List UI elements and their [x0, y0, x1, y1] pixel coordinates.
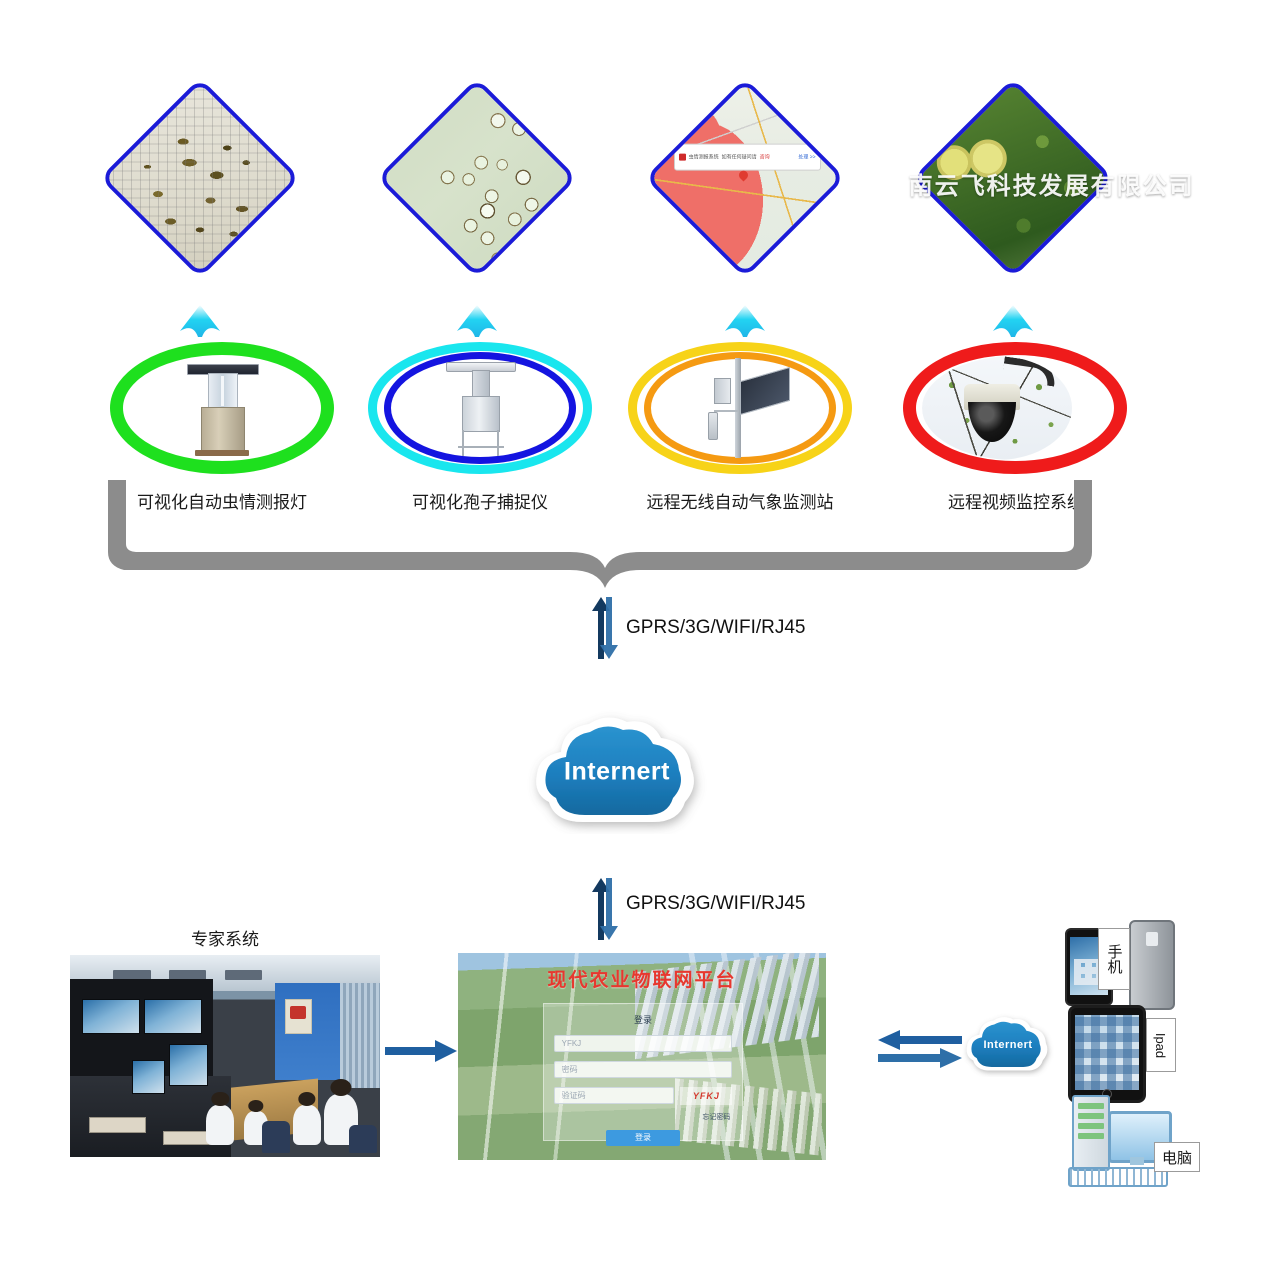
device-ring-dome-camera[interactable] — [903, 342, 1127, 474]
weather-station-icon — [688, 356, 792, 460]
capture-diamond-spores — [377, 78, 577, 278]
uplink-arrow-2 — [442, 305, 512, 339]
diamond-frame — [377, 78, 578, 279]
link-arrow-upper — [592, 597, 618, 664]
spore-microscope-image — [377, 79, 578, 279]
popup-system-name: 虫情测报系统 — [689, 154, 719, 161]
arrow-expert-to-platform — [385, 1038, 457, 1069]
internet-cloud-main[interactable]: Internert — [527, 710, 707, 834]
map-popup: 虫情测报系统 如有任何疑问请 咨询 处理 >> — [674, 144, 821, 171]
username-input[interactable]: YFKJ — [554, 1035, 733, 1052]
capture-diamond-insects — [100, 78, 300, 278]
cloud-label-main: Internert — [527, 758, 707, 787]
iot-platform-screenshot[interactable]: 现代农业物联网平台 登录 YFKJ 密码 验证码 YFKJ 忘记密码 登录 — [458, 953, 826, 1160]
client-label-ipad-box: Ipad — [1146, 1018, 1176, 1072]
captcha-image[interactable]: YFKJ — [680, 1087, 732, 1105]
platform-title: 现代农业物联网平台 — [458, 965, 826, 992]
insect-trap-lamp-icon — [187, 360, 257, 456]
login-submit-button[interactable]: 登录 — [606, 1130, 680, 1146]
captcha-row[interactable]: 验证码 YFKJ — [554, 1087, 733, 1105]
capture-diamond-map: 虫情测报系统 如有任何疑问请 咨询 处理 >> — [645, 78, 845, 278]
weather-map-image: 虫情测报系统 如有任何疑问请 咨询 处理 >> — [645, 79, 846, 279]
expert-system-photo — [70, 955, 380, 1157]
arrow-clients-to-platform — [878, 1030, 962, 1075]
diamond-image-insects — [100, 79, 301, 279]
device-ring-spore-trap[interactable] — [368, 342, 592, 474]
client-label-ipad: Ipad — [1154, 1032, 1169, 1057]
expert-system-label: 专家系统 — [70, 925, 380, 950]
link-label-lower: GPRS/3G/WIFI/RJ45 — [626, 893, 805, 915]
password-input[interactable]: 密码 — [554, 1061, 733, 1078]
popup-message: 如有任何疑问请 — [722, 154, 757, 161]
orchard-watermark: 南云飞科技发展有限公司 — [880, 166, 1140, 201]
login-heading: 登录 — [544, 1013, 743, 1026]
aggregation-bracket — [100, 480, 1100, 595]
diamond-image-map: 虫情测报系统 如有任何疑问请 咨询 处理 >> — [645, 79, 846, 279]
cloud-label-side: Internert — [962, 1039, 1054, 1051]
uplink-arrow-4 — [978, 305, 1048, 339]
login-panel[interactable]: 登录 YFKJ 密码 验证码 YFKJ 忘记密码 登录 — [543, 1003, 744, 1142]
desktop-computer-icon — [1068, 1095, 1172, 1187]
internet-cloud-side[interactable]: Internert — [962, 1013, 1054, 1077]
link-arrow-lower — [592, 878, 618, 945]
control-room-image — [70, 955, 380, 1157]
popup-highlight: 咨询 — [760, 154, 770, 161]
diamond-frame — [100, 78, 301, 279]
tablet-icon — [1068, 1005, 1146, 1103]
client-tablet[interactable] — [1068, 1005, 1140, 1097]
diamond-image-spores — [377, 79, 578, 279]
forgot-password-link[interactable]: 忘记密码 — [544, 1112, 731, 1122]
client-label-phone-box: 手机 — [1098, 928, 1130, 990]
client-desktop[interactable] — [1068, 1095, 1172, 1187]
insect-plate-image — [100, 79, 301, 279]
map-pin-icon — [737, 169, 750, 182]
device-ring-insect-trap-lamp[interactable] — [110, 342, 334, 474]
uplink-arrow-1 — [165, 305, 235, 339]
popup-action-link: 处理 >> — [798, 154, 815, 161]
client-label-phone: 手机 — [1104, 944, 1125, 974]
client-label-pc: 电脑 — [1162, 1147, 1192, 1168]
uplink-arrow-3 — [710, 305, 780, 339]
dome-camera-icon — [922, 356, 1108, 460]
link-label-upper: GPRS/3G/WIFI/RJ45 — [626, 617, 805, 639]
client-label-pc-box: 电脑 — [1154, 1142, 1200, 1172]
spore-trap-icon — [442, 358, 518, 458]
watermark-text: 南云飞科技发展有限公司 — [880, 166, 1223, 201]
popup-logo-icon — [679, 154, 686, 161]
captcha-input[interactable]: 验证码 — [554, 1087, 675, 1104]
device-ring-weather-station[interactable] — [628, 342, 852, 474]
diamond-frame: 虫情测报系统 如有任何疑问请 咨询 处理 >> — [645, 78, 846, 279]
